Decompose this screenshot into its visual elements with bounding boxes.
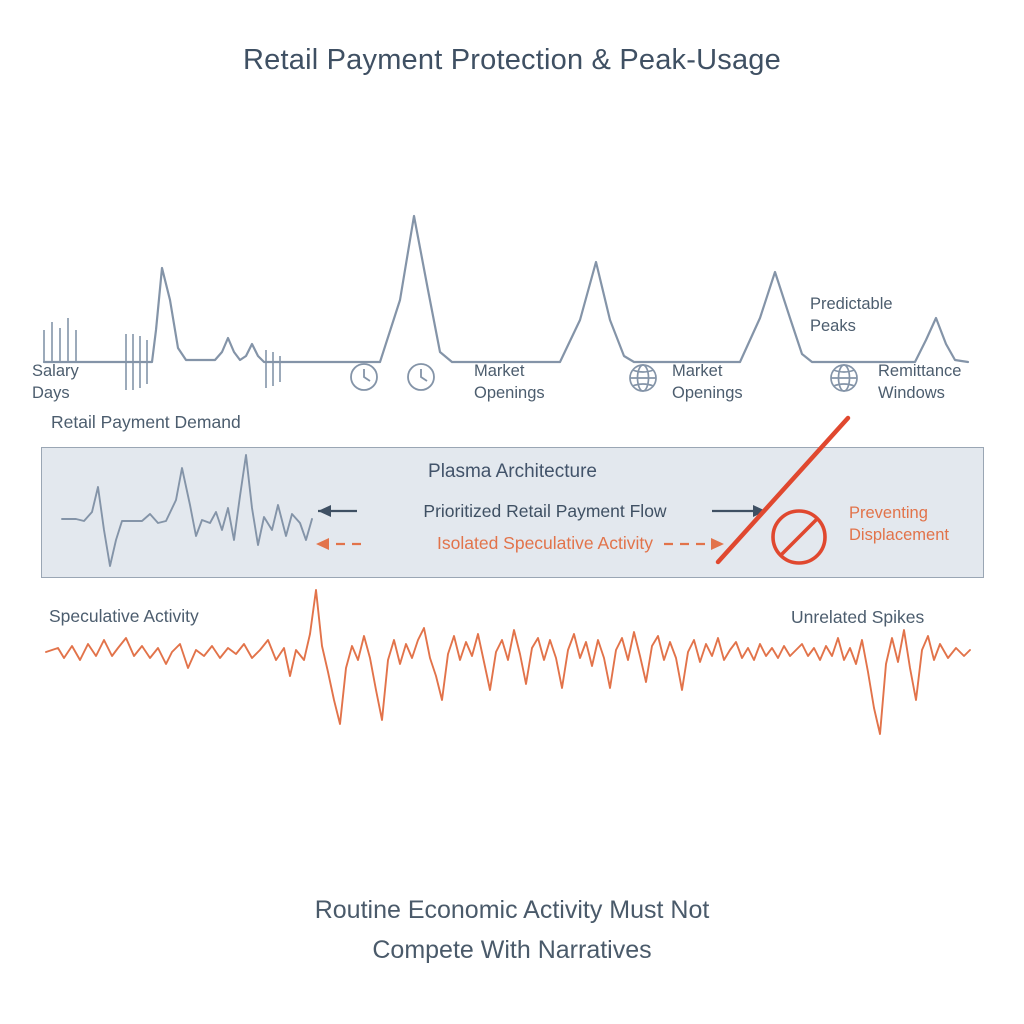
page-footer: Routine Economic Activity Must Not Compe…: [0, 890, 1024, 970]
footer-line-1: Routine Economic Activity Must Not: [0, 890, 1024, 930]
bottom-chart-svg: [0, 0, 1024, 1024]
label-speculative-activity: Speculative Activity: [49, 605, 199, 627]
label-unrelated-spikes: Unrelated Spikes: [791, 606, 924, 628]
footer-line-2: Compete With Narratives: [0, 930, 1024, 970]
diagram-canvas: Retail Payment Protection & Peak-Usage: [0, 0, 1024, 1024]
